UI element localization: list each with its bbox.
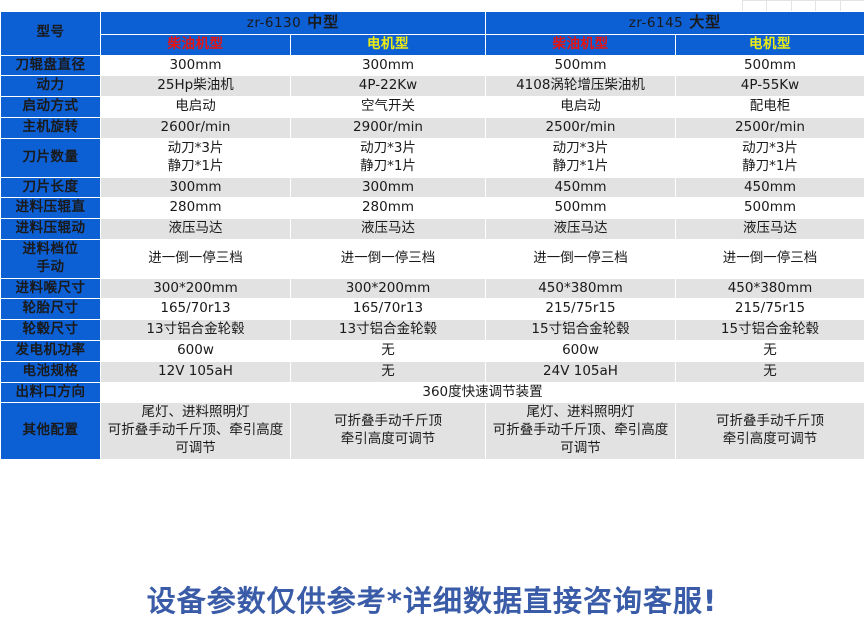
cell-value: 450mm bbox=[486, 177, 676, 198]
cell-value: 无 bbox=[676, 341, 864, 362]
spec-table-container: 型号 zr-6130中型 zr-6145大型 柴油机型 电机型 柴油机型 电机型… bbox=[0, 11, 864, 460]
cell-value: 600w bbox=[486, 341, 676, 362]
cell-value: 450mm bbox=[676, 177, 864, 198]
disclaimer-banner: 设备参数仅供参考*详细数据直接咨询客服! bbox=[0, 578, 864, 620]
row-label: 刀辊盘直径 bbox=[1, 55, 101, 76]
row-label: 刀片长度 bbox=[1, 177, 101, 198]
cell-value: 12V 105aH bbox=[101, 361, 291, 382]
cell-value: 165/70r13 bbox=[291, 299, 486, 320]
cell-value: 无 bbox=[676, 361, 864, 382]
model-name-1: zr-6130 bbox=[247, 15, 302, 31]
table-row: 动力25Hp柴油机4P-22Kw4108涡轮增压柴油机4P-55Kw bbox=[1, 76, 864, 97]
cell-value: 动刀*3片静刀*1片 bbox=[676, 138, 864, 177]
cell-value: 液压马达 bbox=[291, 219, 486, 240]
row-label: 电池规格 bbox=[1, 361, 101, 382]
cell-value: 300mm bbox=[101, 177, 291, 198]
cell-value: 动刀*3片静刀*1片 bbox=[486, 138, 676, 177]
table-row: 轮胎尺寸165/70r13165/70r13215/75r15215/75r15 bbox=[1, 299, 864, 320]
cell-value: 进一倒一停三档 bbox=[101, 239, 291, 278]
row-label: 其他配置 bbox=[1, 403, 101, 459]
cell-value: 280mm bbox=[291, 198, 486, 219]
table-row: 主机旋转2600r/min2900r/min2500r/min2500r/min bbox=[1, 118, 864, 139]
cell-value: 500mm bbox=[676, 198, 864, 219]
header-label-model: 型号 bbox=[1, 12, 101, 56]
table-row: 刀片长度300mm300mm450mm450mm bbox=[1, 177, 864, 198]
table-header-variant-row: 柴油机型 电机型 柴油机型 电机型 bbox=[1, 34, 864, 55]
model-size-2: 大型 bbox=[689, 13, 721, 31]
cell-value: 动刀*3片静刀*1片 bbox=[291, 138, 486, 177]
cell-value: 165/70r13 bbox=[101, 299, 291, 320]
cell-value: 尾灯、进料照明灯可折叠手动千斤顶、牵引高度可调节 bbox=[101, 403, 291, 459]
cell-value: 动刀*3片静刀*1片 bbox=[101, 138, 291, 177]
table-row: 进料档位手动进一倒一停三档进一倒一停三档进一倒一停三档进一倒一停三档 bbox=[1, 239, 864, 278]
table-row: 发电机功率600w无600w无 bbox=[1, 341, 864, 362]
table-row-config: 其他配置尾灯、进料照明灯可折叠手动千斤顶、牵引高度可调节可折叠手动千斤顶牵引高度… bbox=[1, 403, 864, 459]
cell-value: 300*200mm bbox=[101, 278, 291, 299]
cell-value: 2600r/min bbox=[101, 118, 291, 139]
cell-value: 215/75r15 bbox=[676, 299, 864, 320]
row-label: 刀片数量 bbox=[1, 138, 101, 177]
cell-value: 电启动 bbox=[101, 97, 291, 118]
table-row: 刀片数量动刀*3片静刀*1片动刀*3片静刀*1片动刀*3片静刀*1片动刀*3片静… bbox=[1, 138, 864, 177]
table-row: 进料喉尺寸300*200mm300*200mm450*380mm450*380m… bbox=[1, 278, 864, 299]
row-label: 发电机功率 bbox=[1, 341, 101, 362]
variant-header-diesel-1: 柴油机型 bbox=[101, 34, 291, 55]
table-row: 电池规格12V 105aH无24V 105aH无 bbox=[1, 361, 864, 382]
cell-value: 无 bbox=[291, 341, 486, 362]
row-label: 轮胎尺寸 bbox=[1, 299, 101, 320]
table-header-model-row: 型号 zr-6130中型 zr-6145大型 bbox=[1, 12, 864, 35]
model-size-1: 中型 bbox=[307, 13, 339, 31]
cell-value: 进一倒一停三档 bbox=[486, 239, 676, 278]
cell-value: 500mm bbox=[486, 198, 676, 219]
row-label: 动力 bbox=[1, 76, 101, 97]
cell-value: 空气开关 bbox=[291, 97, 486, 118]
variant-header-diesel-2: 柴油机型 bbox=[486, 34, 676, 55]
table-row: 刀辊盘直径300mm300mm500mm500mm bbox=[1, 55, 864, 76]
cell-value: 500mm bbox=[676, 55, 864, 76]
cell-value: 液压马达 bbox=[101, 219, 291, 240]
cell-value: 450*380mm bbox=[486, 278, 676, 299]
row-label: 轮毂尺寸 bbox=[1, 320, 101, 341]
cell-value: 600w bbox=[101, 341, 291, 362]
cell-value: 24V 105aH bbox=[486, 361, 676, 382]
cell-value: 4P-55Kw bbox=[676, 76, 864, 97]
row-label: 进料压辊直 bbox=[1, 198, 101, 219]
cell-value: 尾灯、进料照明灯可折叠手动千斤顶、牵引高度可调节 bbox=[486, 403, 676, 459]
table-row: 进料压辊直280mm280mm500mm500mm bbox=[1, 198, 864, 219]
model-group-header-2: zr-6145大型 bbox=[486, 12, 864, 35]
row-label: 启动方式 bbox=[1, 97, 101, 118]
cell-value: 300*200mm bbox=[291, 278, 486, 299]
cell-value: 450*380mm bbox=[676, 278, 864, 299]
spec-sheet-page: 型号 zr-6130中型 zr-6145大型 柴油机型 电机型 柴油机型 电机型… bbox=[0, 0, 864, 626]
cell-value: 300mm bbox=[101, 55, 291, 76]
cell-value: 15寸铝合金轮毂 bbox=[676, 320, 864, 341]
table-row: 启动方式电启动空气开关电启动配电柜 bbox=[1, 97, 864, 118]
variant-header-motor-1: 电机型 bbox=[291, 34, 486, 55]
model-name-2: zr-6145 bbox=[629, 15, 684, 31]
row-label: 进料喉尺寸 bbox=[1, 278, 101, 299]
row-label: 进料档位手动 bbox=[1, 239, 101, 278]
cell-value-merged: 360度快速调节装置 bbox=[101, 382, 864, 403]
cell-value: 215/75r15 bbox=[486, 299, 676, 320]
specification-table: 型号 zr-6130中型 zr-6145大型 柴油机型 电机型 柴油机型 电机型… bbox=[0, 11, 864, 460]
cell-value: 2500r/min bbox=[676, 118, 864, 139]
row-label: 出料口方向 bbox=[1, 382, 101, 403]
cell-value: 液压马达 bbox=[486, 219, 676, 240]
variant-header-motor-2: 电机型 bbox=[676, 34, 864, 55]
cell-value: 无 bbox=[291, 361, 486, 382]
table-row: 轮毂尺寸13寸铝合金轮毂13寸铝合金轮毂15寸铝合金轮毂15寸铝合金轮毂 bbox=[1, 320, 864, 341]
table-row-merged: 出料口方向360度快速调节装置 bbox=[1, 382, 864, 403]
cell-value: 4P-22Kw bbox=[291, 76, 486, 97]
cell-value: 4108涡轮增压柴油机 bbox=[486, 76, 676, 97]
cell-value: 280mm bbox=[101, 198, 291, 219]
cell-value: 300mm bbox=[291, 55, 486, 76]
row-label: 主机旋转 bbox=[1, 118, 101, 139]
cell-value: 300mm bbox=[291, 177, 486, 198]
table-row: 进料压辊动液压马达液压马达液压马达液压马达 bbox=[1, 219, 864, 240]
model-group-header-1: zr-6130中型 bbox=[101, 12, 486, 35]
cell-value: 15寸铝合金轮毂 bbox=[486, 320, 676, 341]
cell-value: 配电柜 bbox=[676, 97, 864, 118]
cell-value: 25Hp柴油机 bbox=[101, 76, 291, 97]
cell-value: 13寸铝合金轮毂 bbox=[101, 320, 291, 341]
cell-value: 可折叠手动千斤顶牵引高度可调节 bbox=[676, 403, 864, 459]
cell-value: 2500r/min bbox=[486, 118, 676, 139]
cell-value: 液压马达 bbox=[676, 219, 864, 240]
cell-value: 500mm bbox=[486, 55, 676, 76]
cell-value: 13寸铝合金轮毂 bbox=[291, 320, 486, 341]
cell-value: 电启动 bbox=[486, 97, 676, 118]
cell-value: 可折叠手动千斤顶牵引高度可调节 bbox=[291, 403, 486, 459]
cell-value: 进一倒一停三档 bbox=[676, 239, 864, 278]
cell-value: 进一倒一停三档 bbox=[291, 239, 486, 278]
cell-value: 2900r/min bbox=[291, 118, 486, 139]
row-label: 进料压辊动 bbox=[1, 219, 101, 240]
